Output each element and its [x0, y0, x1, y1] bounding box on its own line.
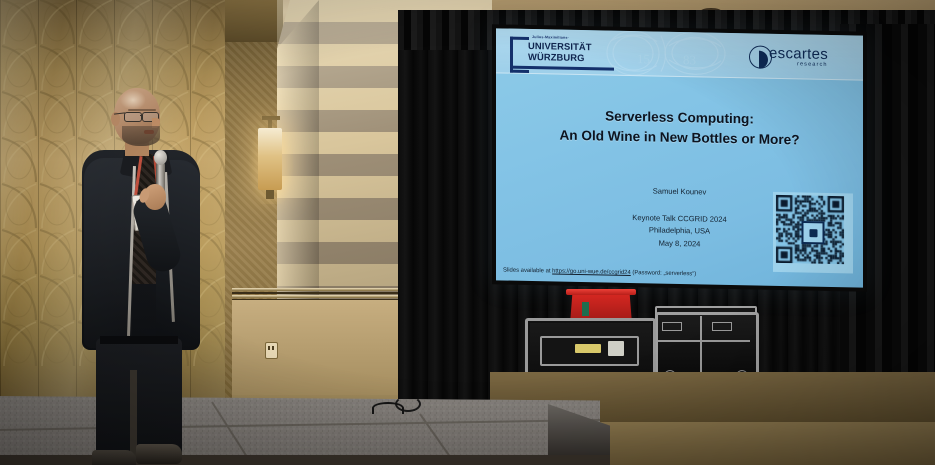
qr-code[interactable]	[773, 192, 853, 274]
sconce-foot	[266, 190, 274, 199]
shoe	[92, 450, 136, 465]
red-bin-lip	[566, 289, 636, 295]
outlet-slot	[268, 346, 270, 350]
speaker-beard	[122, 126, 160, 146]
descartes-logo-text: escartes	[769, 45, 828, 63]
wall-sconce-light	[258, 128, 282, 190]
university-wuerzburg-logo: Julius-Maximilians- UNIVERSITÄT WÜRZBURG	[510, 35, 608, 71]
stage-cable	[372, 402, 404, 414]
case-seam	[658, 340, 750, 342]
footer-prefix: Slides available at	[503, 267, 552, 274]
projection-screen: 15 83 Julius-Maximilians- UNIVERSITÄT WÜ…	[496, 28, 863, 287]
red-bin-tag	[582, 302, 589, 316]
wall-column-cap	[225, 0, 283, 42]
slides-url-link[interactable]: https://go.uni-wue.de/ccgrid24	[552, 268, 631, 276]
case-latch-icon	[662, 322, 682, 331]
microphone-head-icon	[154, 150, 167, 165]
qr-center-logo	[802, 221, 825, 244]
case-latch-icon	[712, 322, 732, 331]
uni-logo-subline: Julius-Maximilians-	[532, 35, 569, 40]
speaker-legs	[96, 338, 182, 458]
descartes-logo-subtitle: research	[797, 61, 828, 68]
svg-text:15: 15	[637, 51, 650, 66]
conference-photo-scene: 15 83 Julius-Maximilians- UNIVERSITÄT WÜ…	[0, 0, 935, 465]
glasses-lens-icon	[124, 112, 142, 122]
case-seam	[700, 316, 702, 372]
speaker-brow	[128, 109, 156, 111]
power-outlet-icon	[265, 342, 278, 359]
case-plate	[608, 341, 624, 356]
belt	[100, 336, 178, 344]
head-highlight	[120, 90, 146, 110]
descartes-mark-fill	[759, 50, 768, 68]
descartes-research-logo: escartes research	[749, 43, 853, 75]
speaker-presenter	[78, 88, 210, 448]
svg-text:83: 83	[683, 52, 696, 67]
glasses-bridge	[140, 115, 143, 116]
slide-title: Serverless Computing: An Old Wine in New…	[496, 104, 863, 151]
case-label	[575, 344, 601, 353]
uni-logo-line2: WÜRZBURG	[528, 51, 585, 63]
slide-footer: Slides available at https://go.uni-wue.d…	[503, 267, 696, 277]
speaker-mouth	[144, 130, 154, 134]
outlet-slot	[272, 346, 274, 350]
jacket-left-panel	[84, 158, 132, 348]
footer-suffix: (Password: „serverless“)	[631, 270, 696, 277]
shoe	[136, 444, 182, 464]
